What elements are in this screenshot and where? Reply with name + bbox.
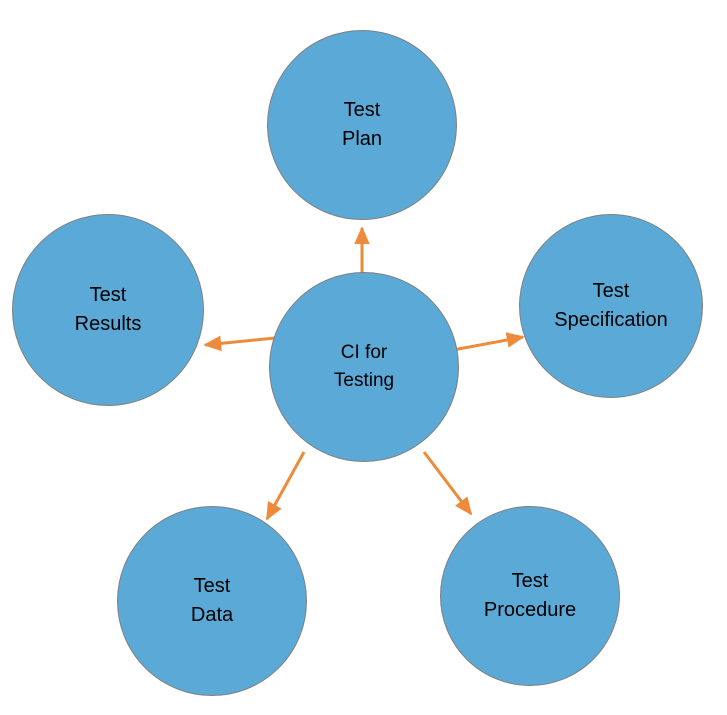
node-test-specification[interactable]: TestSpecification: [519, 214, 703, 398]
node-label-line: CI for: [341, 339, 387, 367]
node-label-line: Plan: [342, 125, 382, 154]
node-label-line: Data: [191, 601, 233, 630]
node-label-line: Procedure: [484, 596, 576, 625]
node-label-line: Test: [90, 281, 127, 310]
arrow-to-test-specification: [453, 337, 523, 350]
arrow-to-test-data: [267, 452, 304, 519]
diagram-canvas: CI forTestingTestPlanTestSpecificationTe…: [0, 0, 727, 715]
node-label-line: Test: [593, 277, 630, 306]
arrow-to-test-procedure: [424, 452, 471, 514]
node-label-line: Testing: [334, 367, 394, 395]
node-test-data[interactable]: TestData: [117, 506, 307, 696]
node-label-line: Results: [75, 310, 142, 339]
node-label-line: Test: [194, 572, 231, 601]
node-label-line: Specification: [554, 306, 667, 335]
node-test-procedure[interactable]: TestProcedure: [440, 506, 620, 686]
node-test-plan[interactable]: TestPlan: [267, 30, 457, 220]
node-label-line: Test: [344, 96, 381, 125]
arrow-to-test-results: [205, 338, 275, 345]
node-test-results[interactable]: TestResults: [12, 214, 204, 406]
node-ci-for-testing[interactable]: CI forTesting: [269, 272, 459, 462]
node-label-line: Test: [512, 567, 549, 596]
